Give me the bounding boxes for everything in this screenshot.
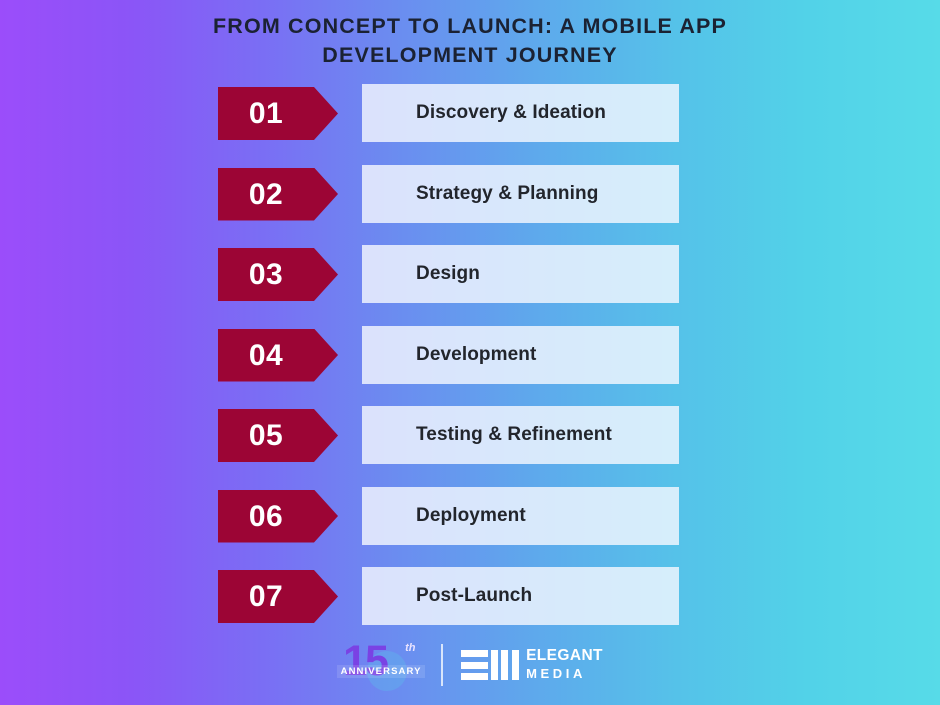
step-label-bar[interactable]: Discovery & Ideation [362, 84, 679, 142]
step-number-label: 01 [218, 87, 314, 140]
step-label-bar[interactable]: Development [362, 326, 679, 384]
step-number-label: 03 [218, 248, 314, 301]
footer-logo-bar: 15 th ANNIVERSARY ELEGANT MEDIA [0, 636, 940, 694]
brand-name-line2: MEDIA [526, 666, 586, 681]
step-label-bar[interactable]: Strategy & Planning [362, 165, 679, 223]
step-label-text: Design [362, 263, 480, 285]
step-label-text: Discovery & Ideation [362, 102, 606, 124]
step-label-bar[interactable]: Design [362, 245, 679, 303]
step-label-bar[interactable]: Post-Launch [362, 567, 679, 625]
em-monogram-e-icon [461, 650, 488, 680]
step-label-text: Deployment [362, 505, 526, 527]
step-number-label: 05 [218, 409, 314, 462]
step-label-text: Development [362, 344, 536, 366]
slide-canvas: FROM CONCEPT TO LAUNCH: A MOBILE APP DEV… [0, 0, 940, 705]
em-monogram-m-icon [491, 650, 523, 680]
step-label-text: Post-Launch [362, 585, 532, 607]
list-item[interactable]: 04 Development [0, 326, 940, 407]
brand-wordmark: ELEGANT MEDIA [526, 647, 603, 683]
step-label-bar[interactable]: Testing & Refinement [362, 406, 679, 464]
anniversary-badge-icon: 15 th ANNIVERSARY [337, 639, 425, 691]
page-title: FROM CONCEPT TO LAUNCH: A MOBILE APP DEV… [0, 12, 940, 70]
anniversary-word: ANNIVERSARY [337, 665, 425, 678]
step-label-text: Testing & Refinement [362, 424, 612, 446]
list-item[interactable]: 01 Discovery & Ideation [0, 84, 940, 165]
list-item[interactable]: 03 Design [0, 245, 940, 326]
step-number-tag: 03 [218, 248, 338, 301]
step-number-tag: 07 [218, 570, 338, 623]
step-number-label: 07 [218, 570, 314, 623]
elegant-media-logo: ELEGANT MEDIA [461, 648, 603, 682]
step-number-label: 04 [218, 329, 314, 382]
step-number-label: 02 [218, 168, 314, 221]
step-number-tag: 06 [218, 490, 338, 543]
list-item[interactable]: 05 Testing & Refinement [0, 406, 940, 487]
anniversary-ordinal: th [405, 642, 415, 654]
step-label-bar[interactable]: Deployment [362, 487, 679, 545]
step-label-text: Strategy & Planning [362, 183, 598, 205]
step-number-label: 06 [218, 490, 314, 543]
list-item[interactable]: 06 Deployment [0, 487, 940, 568]
step-number-tag: 01 [218, 87, 338, 140]
step-number-tag: 04 [218, 329, 338, 382]
list-item[interactable]: 02 Strategy & Planning [0, 165, 940, 246]
step-number-tag: 02 [218, 168, 338, 221]
logo-divider [441, 644, 443, 686]
brand-name-line1: ELEGANT [526, 647, 603, 664]
process-step-list: 01 Discovery & Ideation 02 Strategy & Pl… [0, 84, 940, 648]
step-number-tag: 05 [218, 409, 338, 462]
